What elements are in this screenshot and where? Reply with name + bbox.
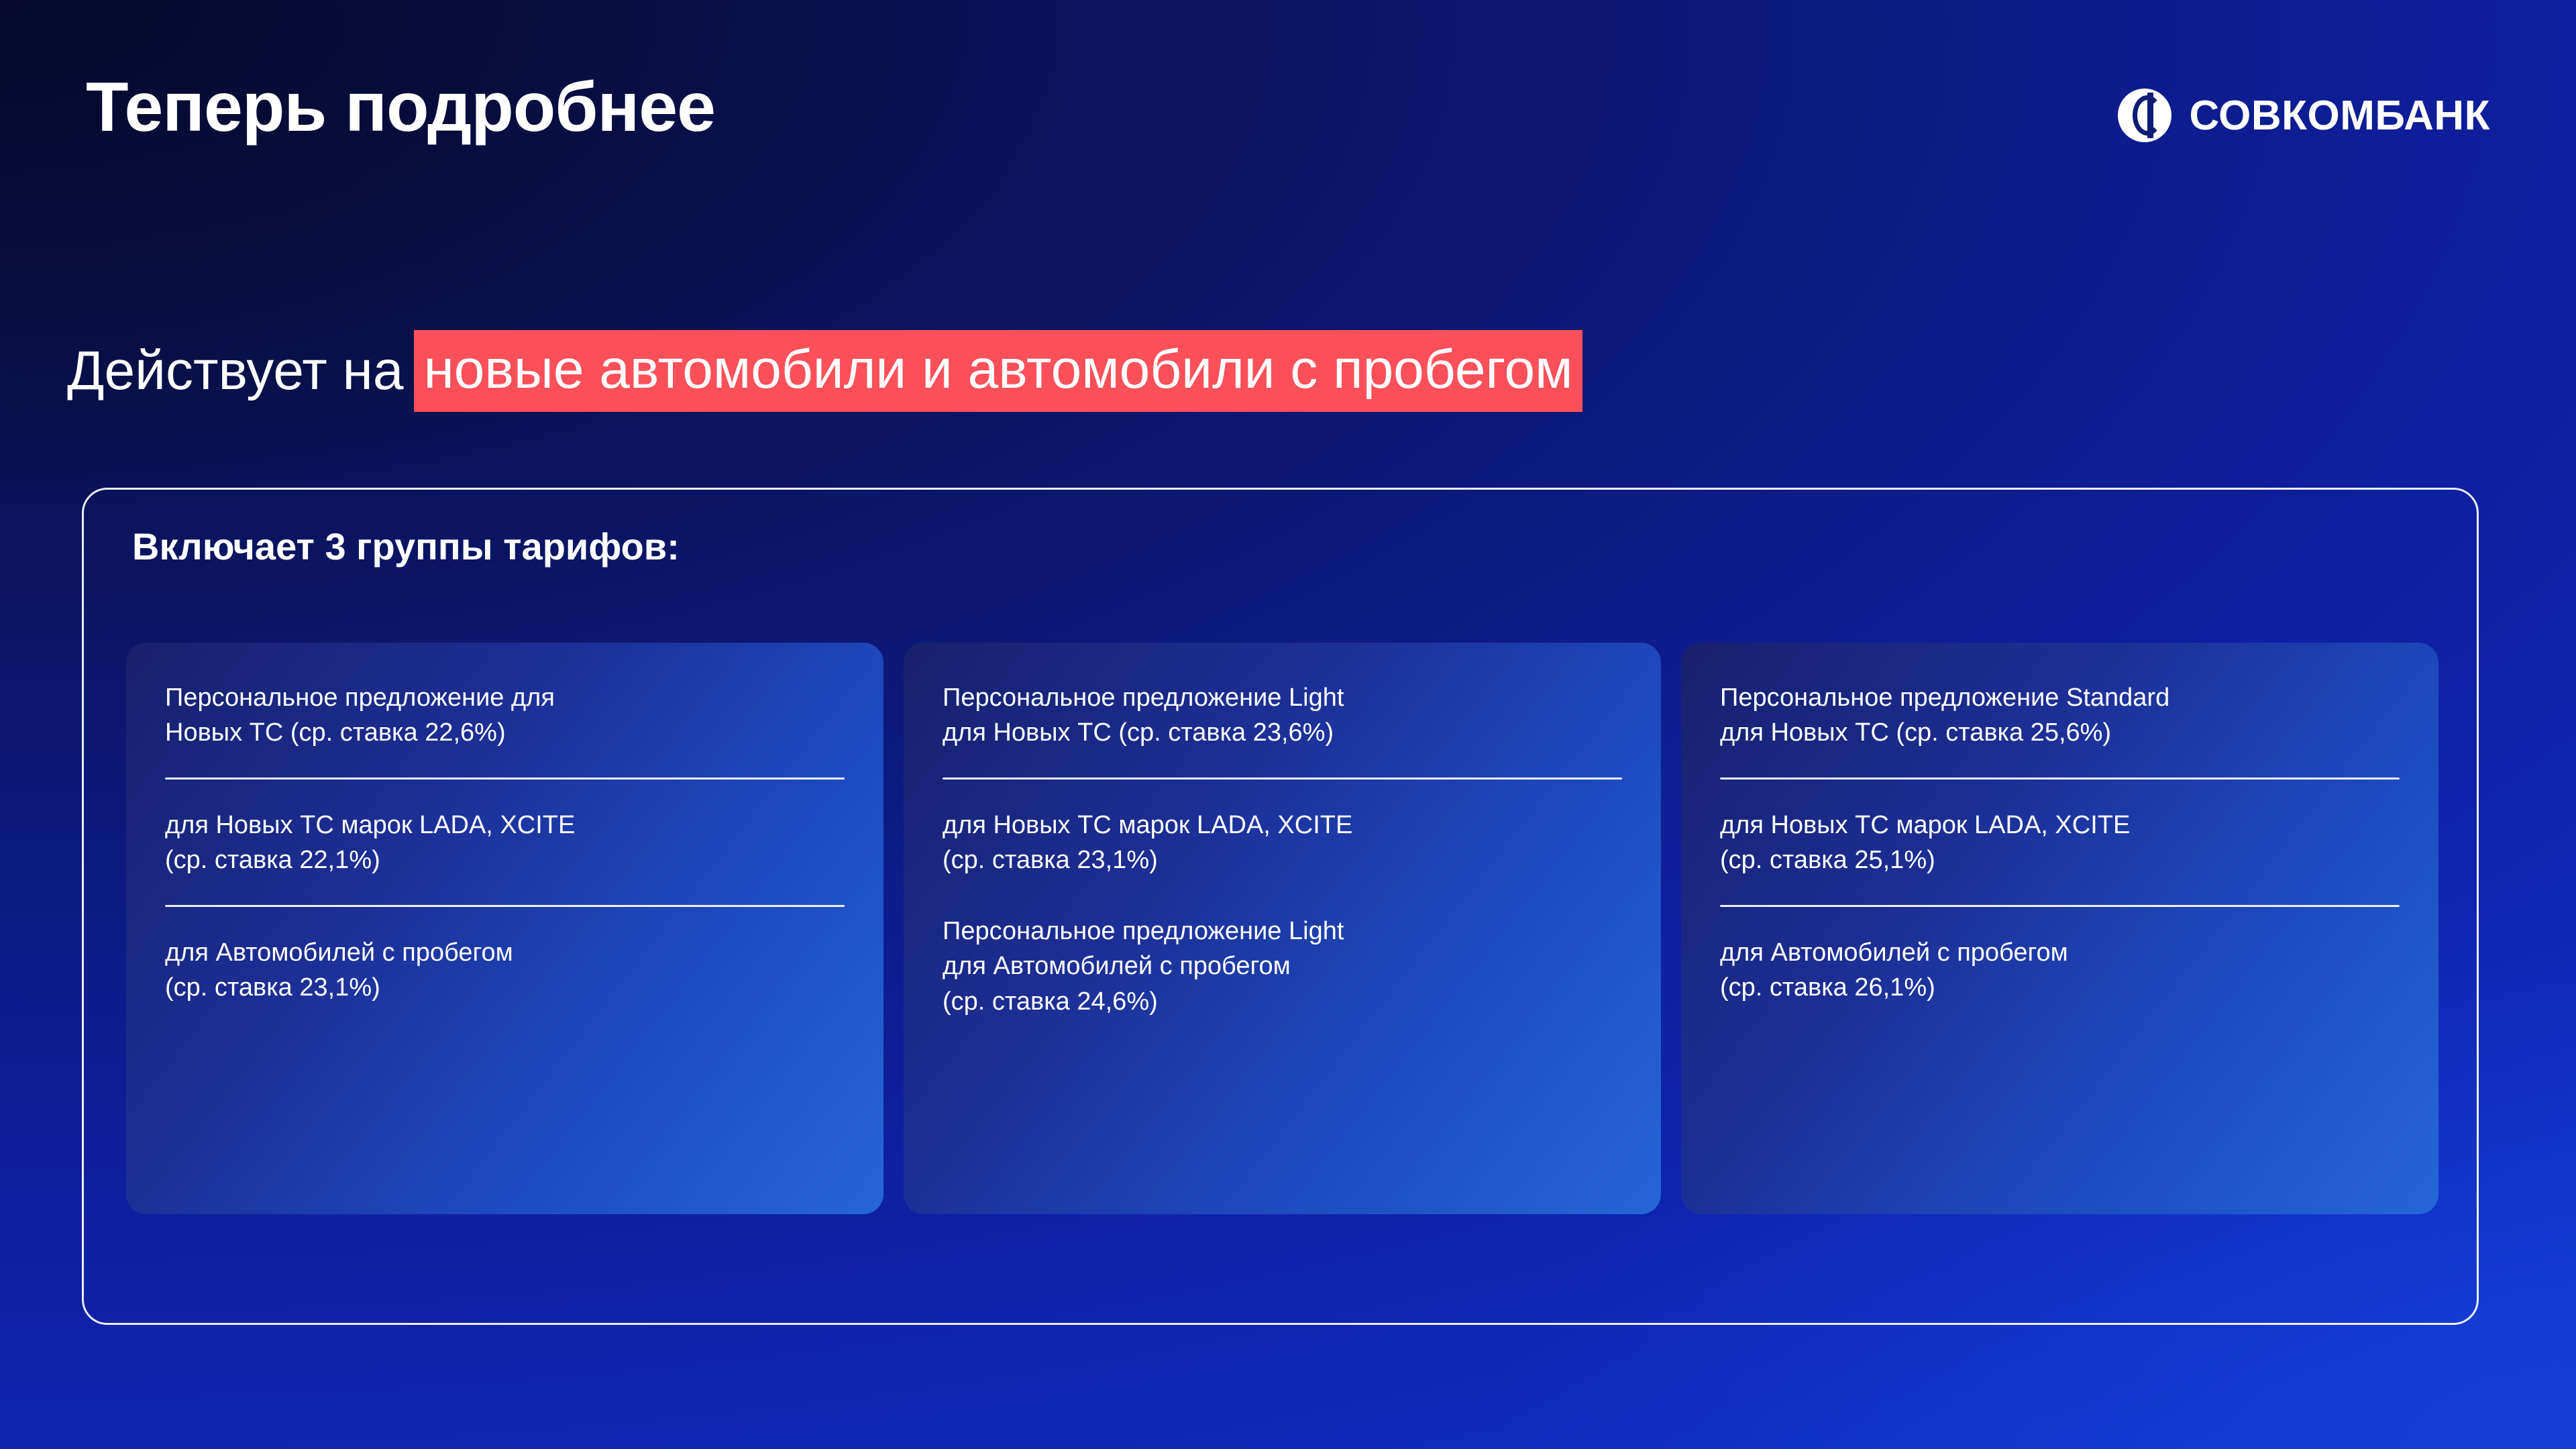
card-divider (1720, 905, 2400, 907)
tariff-line: для Автомобилей с пробегом (943, 949, 1622, 983)
tariff-row: Персональное предложение Light для Автом… (943, 914, 1622, 1019)
tariff-line: для Автомобилей с пробегом (1720, 935, 2400, 970)
tariff-line: (ср. ставка 26,1%) (1720, 970, 2400, 1005)
tariff-line: для Автомобилей с пробегом (165, 935, 845, 970)
page-title: Теперь подробнее (86, 72, 715, 142)
tariff-line: для Новых ТС (ср. ставка 25,6%) (1720, 715, 2400, 750)
tariff-row: для Автомобилей с пробегом (ср. ставка 2… (1720, 935, 2400, 1006)
tariff-cards: Персональное предложение для Новых ТС (с… (126, 643, 2438, 1214)
tariff-group-light-card[interactable]: Персональное предложение Light для Новых… (904, 643, 1661, 1214)
subtitle: Действует на новые автомобили и автомоби… (67, 330, 1582, 412)
slide-root: Теперь подробнее СОВКОМБАНК Действует на… (0, 0, 2576, 1449)
tariff-row: для Новых ТС марок LADA, XCITE (ср. став… (1720, 808, 2400, 878)
tariff-row: для Автомобилей с пробегом (ср. ставка 2… (165, 935, 845, 1006)
panel-heading: Включает 3 группы тарифов: (132, 525, 680, 568)
tariff-line: Персональное предложение Light (943, 914, 1622, 949)
tariff-line: Персональное предложение Light (943, 680, 1622, 715)
card-divider (165, 905, 845, 907)
tariffs-panel: Включает 3 группы тарифов: Персональное … (82, 488, 2479, 1325)
brand-wordmark: СОВКОМБАНК (2189, 92, 2490, 140)
tariff-line: для Новых ТС (ср. ставка 23,6%) (943, 715, 1622, 750)
subtitle-highlight: новые автомобили и автомобили с пробегом (414, 330, 1582, 412)
card-divider (165, 777, 845, 780)
tariff-line: для Новых ТС марок LADA, XCITE (943, 808, 1622, 843)
card-divider (943, 777, 1622, 780)
tariff-row: Персональное предложение для Новых ТС (с… (165, 680, 845, 751)
tariff-row: Персональное предложение Standard для Но… (1720, 680, 2400, 751)
subtitle-prefix: Действует на (67, 343, 414, 398)
tariff-line: (ср. ставка 23,1%) (943, 843, 1622, 877)
tariff-row: для Новых ТС марок LADA, XCITE (ср. став… (165, 808, 845, 878)
tariff-line: Персональное предложение Standard (1720, 680, 2400, 715)
brand-logo: СОВКОМБАНК (2118, 89, 2490, 142)
tariff-line: Новых ТС (ср. ставка 22,6%) (165, 715, 845, 750)
tariff-line: (ср. ставка 23,1%) (165, 970, 845, 1005)
tariff-group-standard-card[interactable]: Персональное предложение Standard для Но… (1681, 643, 2438, 1214)
tariff-line: (ср. ставка 25,1%) (1720, 843, 2400, 877)
tariff-line: (ср. ставка 22,1%) (165, 843, 845, 877)
tariff-line: (ср. ставка 24,6%) (943, 984, 1622, 1019)
tariff-line: для Новых ТС марок LADA, XCITE (165, 808, 845, 843)
tariff-row: Персональное предложение Light для Новых… (943, 680, 1622, 751)
tariff-group-personal-card[interactable]: Персональное предложение для Новых ТС (с… (126, 643, 883, 1214)
tariff-row: для Новых ТС марок LADA, XCITE (ср. став… (943, 808, 1622, 878)
card-divider (1720, 777, 2400, 780)
sovcombank-circle-icon (2118, 89, 2171, 142)
tariff-line: Персональное предложение для (165, 680, 845, 715)
tariff-line: для Новых ТС марок LADA, XCITE (1720, 808, 2400, 843)
